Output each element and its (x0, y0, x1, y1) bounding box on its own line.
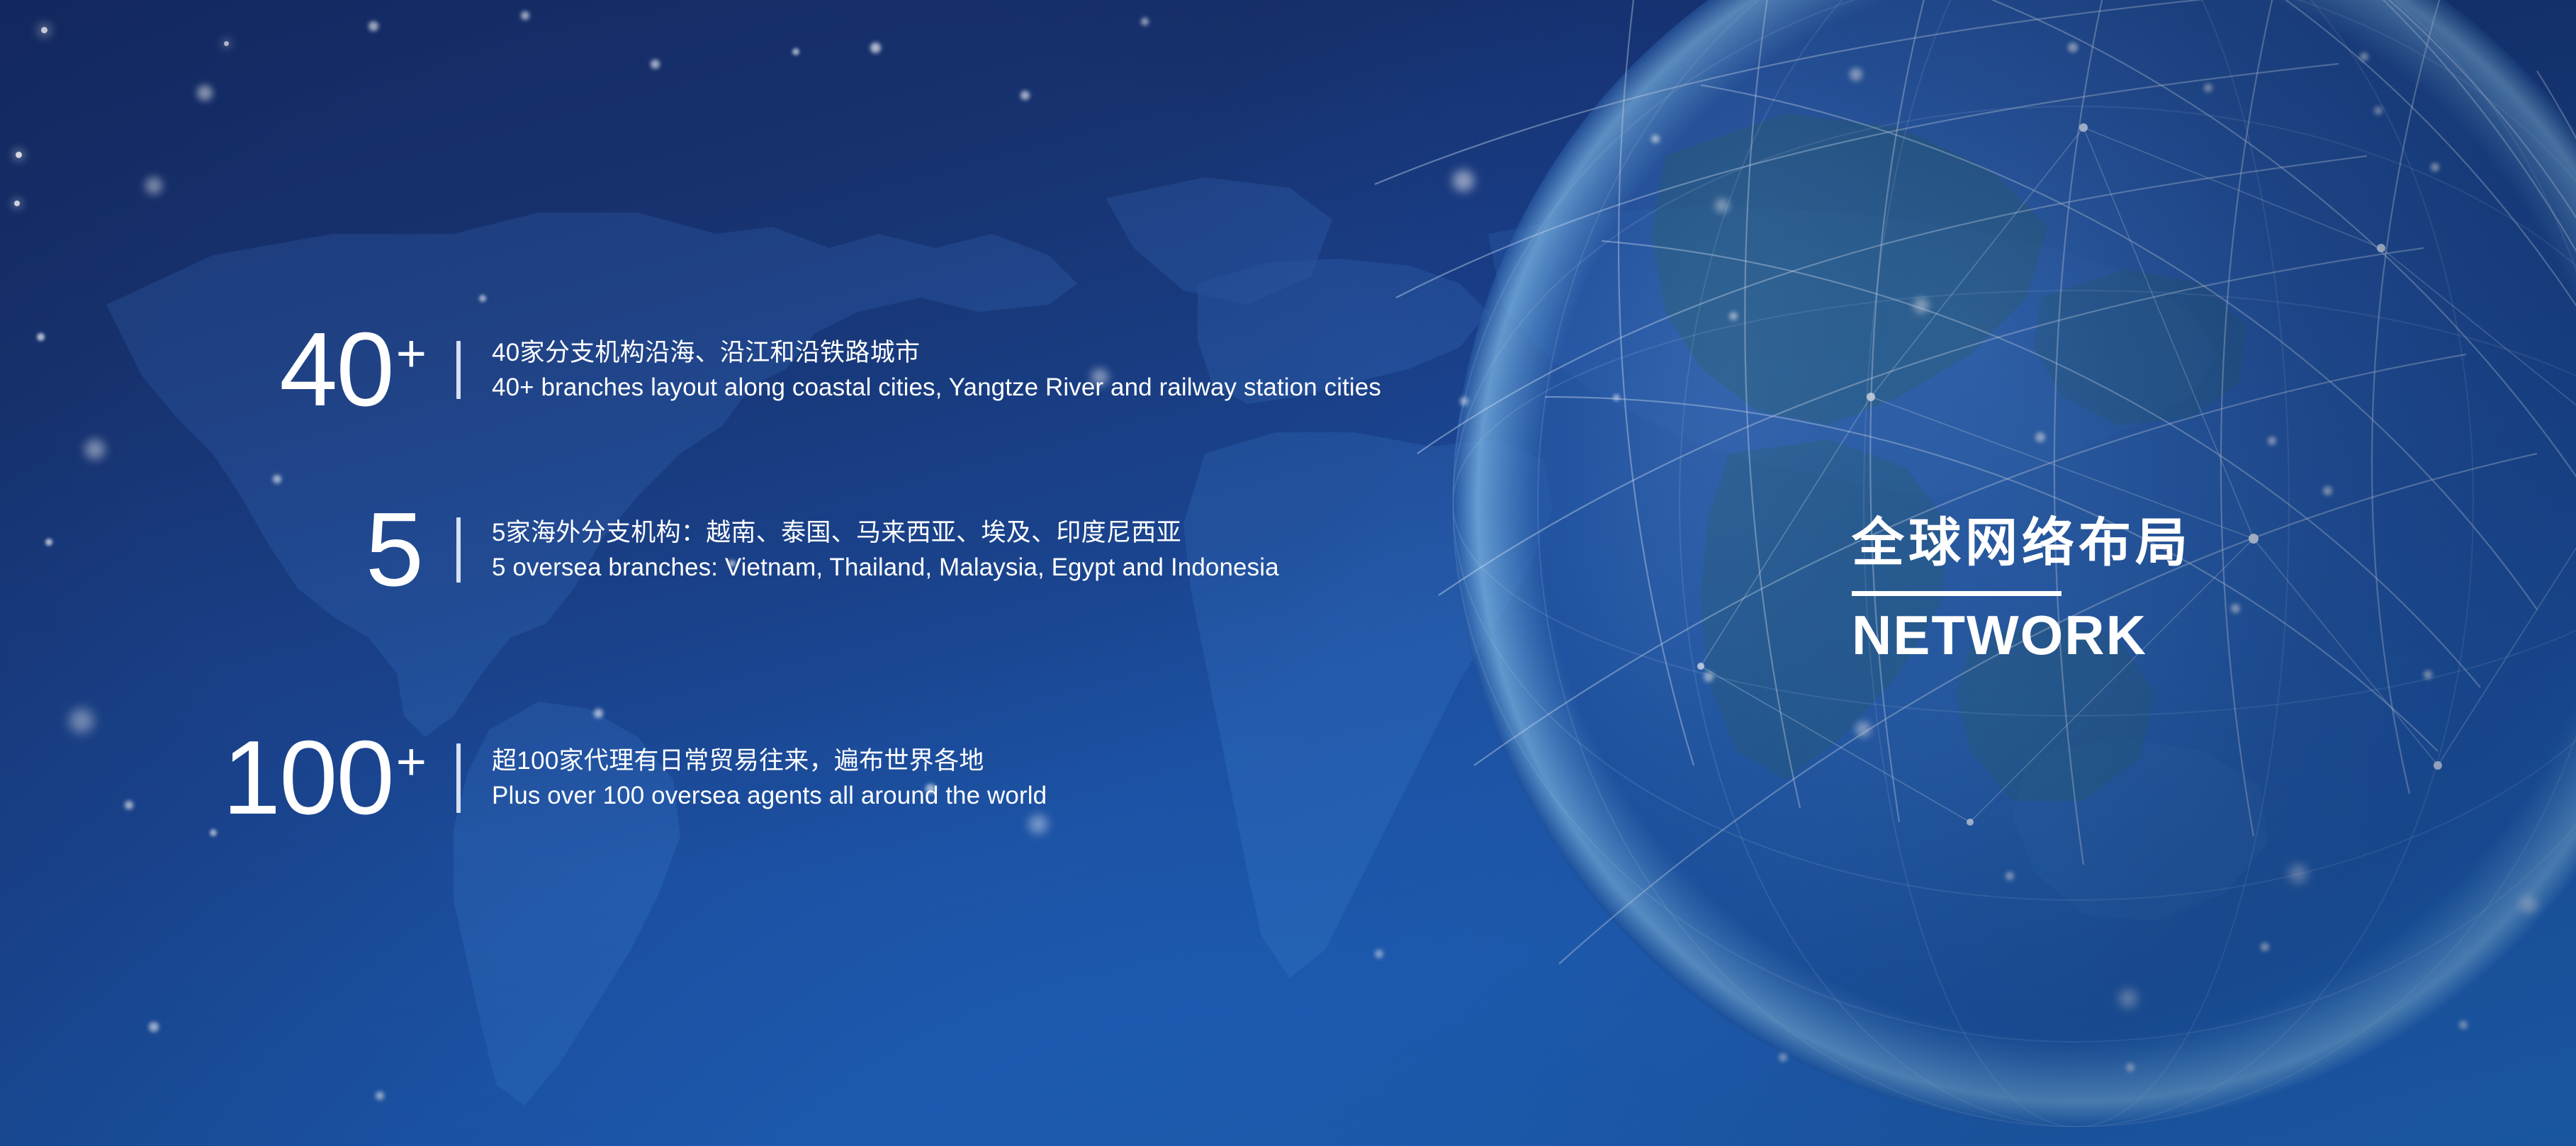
stat-text-english: 5 oversea branches: Vietnam, Thailand, M… (492, 550, 1279, 585)
stat-text-english: Plus over 100 oversea agents all around … (492, 778, 1047, 814)
stat-text-english: 40+ branches layout along coastal cities… (492, 370, 1381, 405)
stat-text-chinese: 40家分支机构沿海、沿江和沿铁路城市 (492, 335, 1381, 371)
stat-number-5: 5 (28, 500, 425, 600)
stat-number-suffix: + (396, 327, 425, 380)
stat-divider (456, 743, 461, 813)
stat-text-chinese: 5家海外分支机构：越南、泰国、马来西亚、埃及、印度尼西亚 (492, 515, 1279, 551)
stat-divider (456, 341, 461, 399)
stat-text-block: 40家分支机构沿海、沿江和沿铁路城市 40+ branches layout a… (492, 335, 1381, 405)
title-english: NETWORK (1852, 607, 2220, 664)
stat-number-suffix: + (396, 736, 425, 788)
stat-text-block: 超100家代理有日常贸易往来，遍布世界各地 Plus over 100 over… (492, 743, 1047, 814)
title-rule-divider (1852, 591, 2062, 596)
network-title-block: 全球网络布局 NETWORK (1852, 515, 2220, 663)
stat-text-block: 5家海外分支机构：越南、泰国、马来西亚、埃及、印度尼西亚 5 oversea b… (492, 515, 1279, 585)
stat-number-value: 100 (223, 729, 393, 828)
stat-divider (456, 517, 461, 583)
stat-row-agents: 100 + 超100家代理有日常贸易往来，遍布世界各地 Plus over 10… (28, 729, 1047, 828)
stat-row-branches: 40 + 40家分支机构沿海、沿江和沿铁路城市 40+ branches lay… (28, 320, 1381, 420)
stat-number-value: 40 (279, 320, 393, 420)
stat-number-value: 5 (366, 500, 422, 600)
title-chinese: 全球网络布局 (1852, 515, 2220, 571)
stat-number-100: 100 + (28, 729, 425, 828)
stats-list: 40 + 40家分支机构沿海、沿江和沿铁路城市 40+ branches lay… (0, 0, 1814, 1146)
stat-text-chinese: 超100家代理有日常贸易往来，遍布世界各地 (492, 743, 1047, 779)
network-banner: 40 + 40家分支机构沿海、沿江和沿铁路城市 40+ branches lay… (0, 0, 2576, 1146)
stat-number-40: 40 + (28, 320, 425, 420)
stat-row-oversea-branches: 5 5家海外分支机构：越南、泰国、马来西亚、埃及、印度尼西亚 5 oversea… (28, 500, 1279, 600)
